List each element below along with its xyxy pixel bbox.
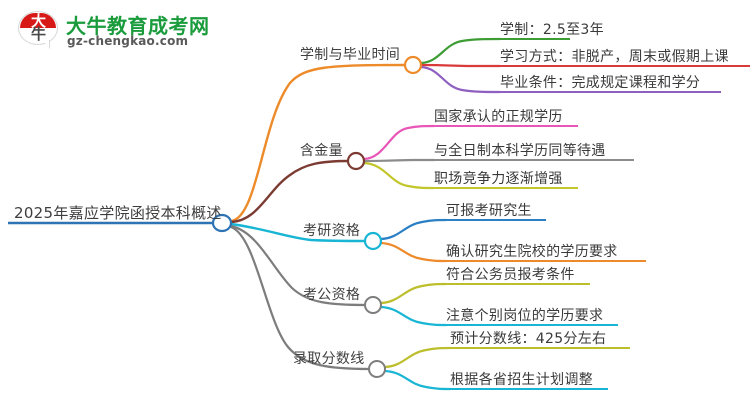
connector-b2-c1 [364, 126, 434, 159]
connector-b1-c1 [421, 39, 500, 63]
branch-label-3[interactable]: 考研资格 [303, 224, 360, 238]
connector-b5-c1 [385, 348, 450, 367]
leaf-label-4-2[interactable]: 注意个别岗位的学历要求 [446, 309, 603, 323]
connector-b3-c2 [381, 243, 446, 261]
branch-node-circle-5[interactable] [369, 361, 385, 377]
leaf-label-3-1[interactable]: 可报考研究生 [446, 204, 532, 218]
branch-node-circle-1[interactable] [405, 57, 421, 73]
leaf-label-3-2[interactable]: 确认研究生院校的学历要求 [446, 245, 618, 259]
root-node-label[interactable]: 2025年嘉应学院函授本科概述 [14, 206, 222, 221]
branch-label-1[interactable]: 学制与毕业时间 [300, 48, 400, 62]
branch-node-circle-2[interactable] [348, 153, 364, 169]
connector-b2-c2 [364, 160, 434, 161]
leaf-label-5-1[interactable]: 预计分数线：425分左右 [450, 332, 606, 346]
connector-b4-c2 [381, 307, 446, 325]
leaf-label-1-3[interactable]: 毕业条件：完成规定课程和学分 [500, 76, 700, 90]
branch-label-4[interactable]: 考公资格 [303, 288, 360, 302]
branch-node-circle-4[interactable] [365, 297, 381, 313]
connector-b3-c1 [381, 220, 446, 239]
connector-root-to-branch-2 [231, 161, 349, 222]
branch-node-circle-3[interactable] [365, 233, 381, 249]
leaf-label-1-1[interactable]: 学制：2.5至3年 [500, 23, 604, 37]
mindmap-canvas: 大 牛 大牛教育成考网 gz-chengkao.com [0, 0, 750, 410]
branch-label-5[interactable]: 录取分数线 [293, 352, 365, 366]
leaf-label-2-2[interactable]: 与全日制本科学历同等待遇 [434, 144, 606, 158]
connector-b5-c2 [385, 371, 450, 389]
connector-b1-c3 [421, 67, 500, 92]
connector-b1-c2 [421, 65, 500, 66]
leaf-label-1-2[interactable]: 学习方式：非脱产，周末或假期上课 [500, 50, 729, 64]
branch-label-2[interactable]: 含金量 [300, 144, 343, 158]
leaf-label-2-3[interactable]: 职场竞争力逐渐增强 [434, 172, 563, 186]
leaf-label-4-1[interactable]: 符合公务员报考条件 [446, 268, 575, 282]
connector-b4-c1 [381, 284, 446, 303]
connector-b2-c3 [364, 163, 434, 188]
leaf-label-2-1[interactable]: 国家承认的正规学历 [434, 110, 563, 124]
leaf-label-5-2[interactable]: 根据各省招生计划调整 [450, 373, 593, 387]
